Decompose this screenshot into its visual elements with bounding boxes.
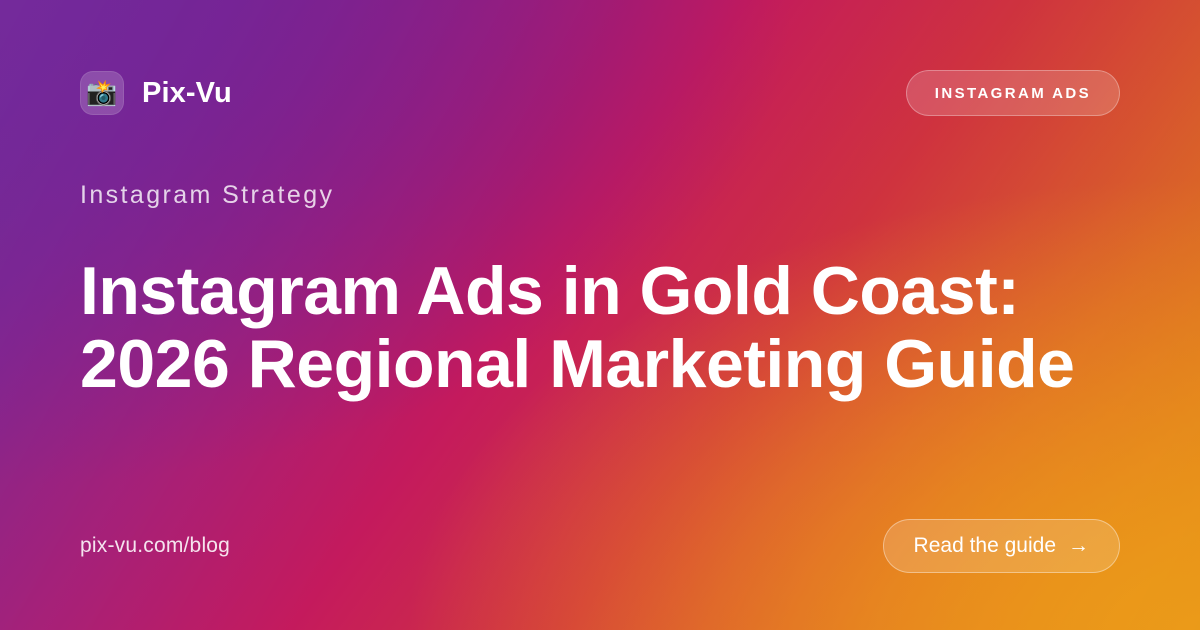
eyebrow-category: Instagram Strategy xyxy=(80,181,1120,210)
brand-name: Pix-Vu xyxy=(142,77,232,110)
card-footer: pix-vu.com/blog Read the guide → xyxy=(80,518,1120,574)
headline-line-2: 2026 Regional Marketing Guide xyxy=(80,328,1090,400)
arrow-right-icon: → xyxy=(1068,535,1089,556)
headline-line-1: Instagram Ads in Gold Coast: xyxy=(80,255,1090,327)
cta-label: Read the guide xyxy=(914,534,1056,558)
camera-with-flash-icon: 📸 xyxy=(80,71,124,115)
status-badge: INSTAGRAM ADS xyxy=(906,70,1120,116)
card-inner: 📸 Pix-Vu INSTAGRAM ADS Instagram Strateg… xyxy=(0,0,1200,630)
brand[interactable]: 📸 Pix-Vu xyxy=(80,71,232,115)
card-main: Instagram Strategy Instagram Ads in Gold… xyxy=(80,181,1120,445)
card-header: 📸 Pix-Vu INSTAGRAM ADS xyxy=(80,64,1120,122)
og-card: 📸 Pix-Vu INSTAGRAM ADS Instagram Strateg… xyxy=(0,0,1200,630)
read-the-guide-button[interactable]: Read the guide → xyxy=(883,519,1120,573)
site-url: pix-vu.com/blog xyxy=(80,534,230,558)
page-title: Instagram Ads in Gold Coast: 2026 Region… xyxy=(80,255,1090,399)
